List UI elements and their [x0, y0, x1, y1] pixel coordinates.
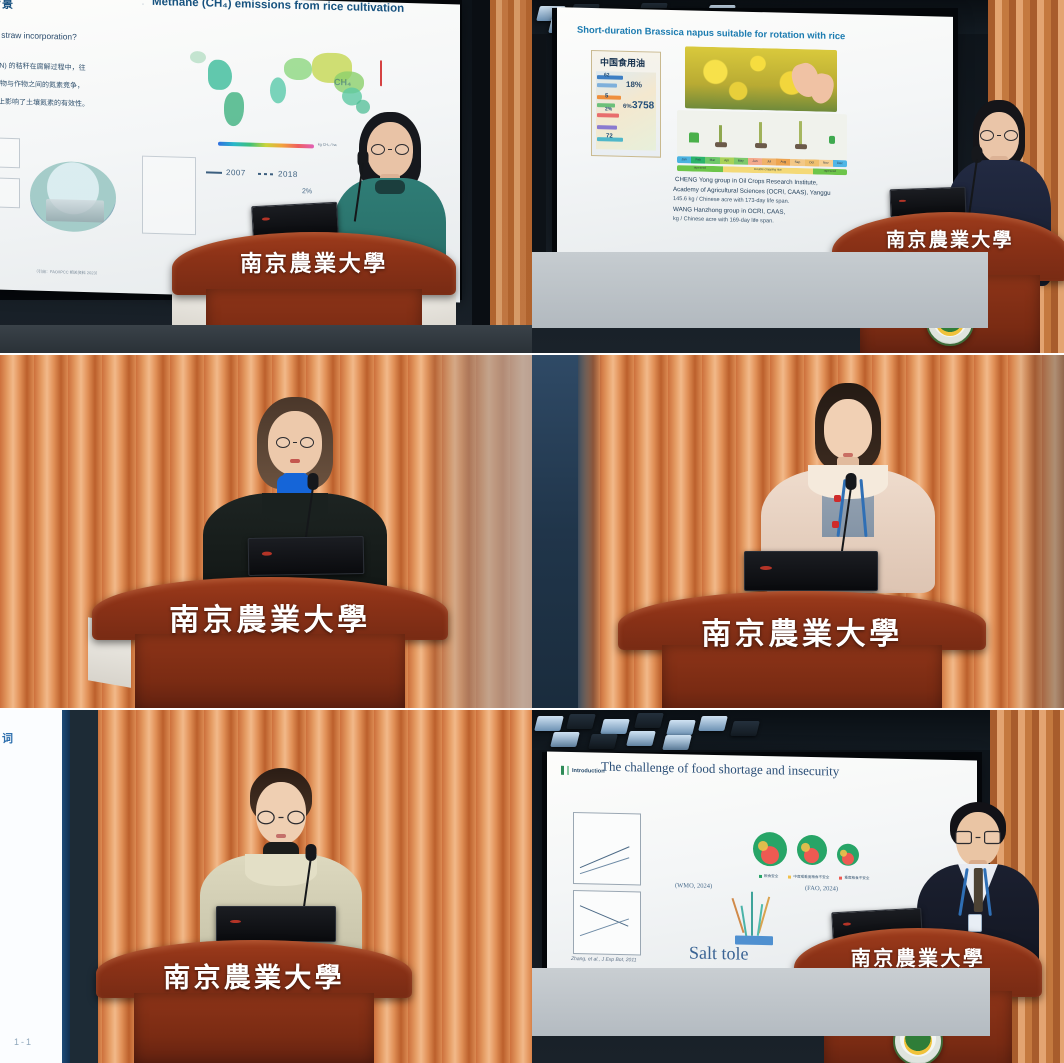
- slide-rapeseed-photo: [685, 46, 837, 112]
- crop-band-rapeseed-spring: rapeseed: [677, 165, 723, 172]
- slide-body-line-3: 程度上影响了土壤氮素的有效性。: [0, 97, 89, 109]
- month-dec: Dec: [833, 160, 847, 167]
- slide-source-fao: (FAO, 2024): [805, 885, 838, 893]
- slide-field-photo-detail: [46, 199, 104, 223]
- map-colorbar: [218, 142, 314, 149]
- month-may: May: [734, 157, 748, 164]
- slide-chart-trend: [665, 812, 745, 876]
- legend-line-dashed: [258, 173, 274, 175]
- crop-band-rapeseed-winter: rapeseed: [813, 168, 847, 175]
- slide-note-right-2: 2%: [302, 188, 312, 195]
- slide-map-label: CH₄: [334, 77, 351, 87]
- slide-chart-land-supply: [573, 890, 641, 955]
- podium-university-name: 南京農業大學: [189, 246, 439, 278]
- pie-legend-1: 粮食安全: [764, 874, 778, 879]
- month-apr: Apr: [720, 157, 734, 164]
- stage-floor: [0, 325, 532, 353]
- slide-heading-cn: 背景: [0, 0, 14, 12]
- photo-panel-middle-left[interactable]: 南京農業大學: [0, 355, 532, 708]
- photo-collage-grid: 背景 · Methane (CH₄) emissions from rice c…: [0, 0, 1064, 1063]
- month-mar: Mar: [705, 157, 719, 164]
- slide-body-line-3: 145.6 kg / Chinese acre with 173-day lif…: [673, 196, 789, 206]
- stage-floor: [532, 968, 990, 1036]
- slide-mini-chart-1: [0, 137, 20, 168]
- photo-panel-top-left[interactable]: 背景 · Methane (CH₄) emissions from rice c…: [0, 0, 532, 353]
- slide-title: The challenge of food shortage and insec…: [601, 759, 839, 780]
- screen-edge-text: 词: [2, 730, 13, 746]
- microphone: [844, 473, 858, 553]
- slide-question: of straw incorporation?: [0, 29, 77, 41]
- month-feb: Feb: [691, 156, 705, 163]
- screen-page-number: 1-1: [14, 1037, 33, 1047]
- month-nov: Nov: [819, 160, 833, 167]
- podium-university-name: 南京農業大學: [113, 595, 426, 639]
- photo-panel-bottom-right[interactable]: Introduction The challenge of food short…: [532, 710, 1064, 1063]
- legend-line-solid: [206, 172, 222, 174]
- slide-body-line-5: kg / Chinese acre with 169-day life span…: [673, 216, 774, 226]
- slide-section-label-group: Introduction: [561, 766, 605, 776]
- poster-number-1: 62: [604, 72, 610, 78]
- slide-pie-asia: [797, 835, 827, 866]
- wall-panel-shadow: [578, 355, 602, 708]
- presenter-laptop: [216, 906, 336, 942]
- crop-band-rice: Double cropping rice: [723, 166, 813, 174]
- month-aug: Aug: [776, 159, 790, 166]
- red-brooch-lower: [832, 521, 839, 528]
- presenter-laptop: [744, 551, 878, 591]
- month-jun: Jun: [748, 158, 762, 165]
- slide-pie-global: [753, 832, 787, 867]
- ceiling-truss: [532, 710, 1064, 750]
- necktie: [974, 868, 983, 912]
- slide-title: Methane (CH₄) emissions from rice cultiv…: [152, 0, 404, 15]
- projection-screen-edge: [0, 710, 62, 1063]
- slide-chart-citation: Zhang, et al., J Exp Bot, 2011: [571, 956, 637, 963]
- month-oct: Oct: [805, 159, 819, 166]
- podium-university-name: 南京農業大學: [846, 225, 1054, 252]
- photo-panel-bottom-left[interactable]: 词 1-1 南京農業大學: [0, 710, 532, 1063]
- slide-body-line-2: 微生物与作物之间的氮素竞争，: [0, 79, 84, 91]
- photo-panel-top-right[interactable]: Short-duration Brassica napus suitable f…: [532, 0, 1064, 353]
- slide-pie-legend: 粮食安全 中度或重度粮食不安全 重度粮食不安全: [759, 874, 869, 881]
- photo-panel-middle-right[interactable]: 南京農業大學: [532, 355, 1064, 708]
- wall-left: [532, 34, 546, 254]
- slide-footnote: （引自：FAO/IPCC 相关资料 2023）: [34, 269, 100, 277]
- poster-title: 中国食用油: [600, 55, 645, 69]
- podium-university-name: 南京農業大學: [640, 609, 964, 653]
- slide-chart-temperature: [573, 812, 641, 885]
- podium-university-name: 南京農業大學: [809, 942, 1027, 971]
- slide-mini-chart-2: [0, 177, 20, 208]
- poster-number-3: 5: [605, 93, 608, 99]
- red-brooch-upper: [834, 495, 841, 502]
- month-jan: Jan: [677, 156, 691, 163]
- slide-section-label: Introduction: [572, 768, 605, 775]
- slide-pie-africa: [837, 844, 859, 866]
- slide-bottom-title: Salt tole: [689, 942, 749, 964]
- screen-edge-frame: [62, 710, 70, 1063]
- podium-university-name: 南京農業大學: [115, 956, 393, 995]
- stage-curtain-right: [490, 0, 532, 353]
- slide-title: Short-duration Brassica napus suitable f…: [577, 24, 845, 42]
- slide-bullet-marker: ·: [142, 2, 144, 8]
- month-sep: Sep: [790, 159, 804, 166]
- month-jul: Jul: [762, 158, 776, 165]
- slide-poster-chinese-edible-oil: 中国食用油 62 18% 5 2% 3758 6% 72: [591, 50, 661, 158]
- podium: 南京農業大學: [618, 591, 986, 708]
- wall-shadow: [472, 0, 490, 353]
- slide-source-wmo: (WMO, 2024): [675, 882, 712, 890]
- podium: 南京農業大學: [96, 940, 412, 1063]
- legend-year-2007: 2007: [226, 168, 246, 178]
- poster-number-5: 3758: [632, 100, 654, 112]
- legend-year-2018: 2018: [278, 169, 298, 179]
- wall-panel-left: [532, 355, 578, 708]
- slide-growth-stage-panel: [677, 110, 847, 160]
- poster-number-4: 2%: [605, 106, 612, 112]
- poster-number-7: 72: [606, 133, 613, 139]
- microphone: [356, 150, 370, 222]
- presenter-laptop: [248, 536, 365, 576]
- pie-legend-3: 重度粮食不安全: [844, 876, 869, 882]
- slide-plant-graphic: [729, 885, 779, 948]
- microphone: [970, 146, 984, 216]
- wall-right-shadow: [1012, 355, 1064, 708]
- collar: [375, 180, 405, 194]
- stage-floor: [532, 252, 988, 328]
- slide-body-line-1: (C/N) 的秸秆在腐解过程中，往: [0, 61, 86, 73]
- section-bar-icon-2: [567, 766, 569, 775]
- poster-number-2: 18%: [626, 80, 642, 89]
- podium: 南京農業大學: [92, 577, 448, 708]
- poster-number-6: 6%: [623, 104, 632, 110]
- lips: [290, 459, 300, 463]
- section-bar-icon: [561, 766, 564, 775]
- slide-line-chart: [142, 156, 196, 236]
- pie-legend-2: 中度或重度粮食不安全: [793, 875, 829, 881]
- lips: [276, 834, 286, 838]
- wall-dark-strip: [70, 710, 98, 1063]
